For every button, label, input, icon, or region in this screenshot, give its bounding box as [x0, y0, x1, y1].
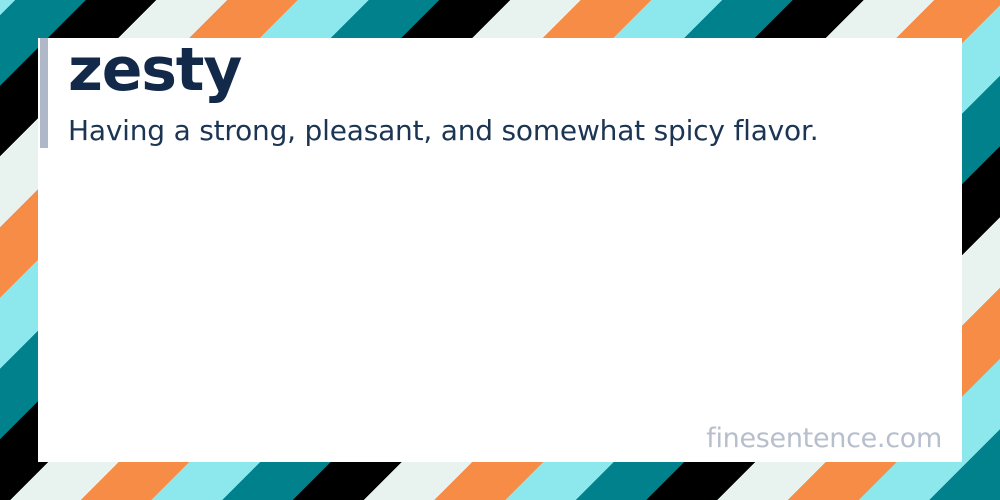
site-watermark: finesentence.com: [706, 423, 942, 454]
entry-text-group: zesty Having a strong, pleasant, and som…: [48, 38, 818, 148]
dictionary-entry: zesty Having a strong, pleasant, and som…: [40, 38, 942, 148]
striped-border-frame: zesty Having a strong, pleasant, and som…: [0, 0, 1000, 500]
accent-bar: [40, 38, 48, 148]
definition-text: Having a strong, pleasant, and somewhat …: [68, 103, 818, 148]
headword: zesty: [68, 38, 818, 103]
definition-card: zesty Having a strong, pleasant, and som…: [38, 38, 962, 462]
